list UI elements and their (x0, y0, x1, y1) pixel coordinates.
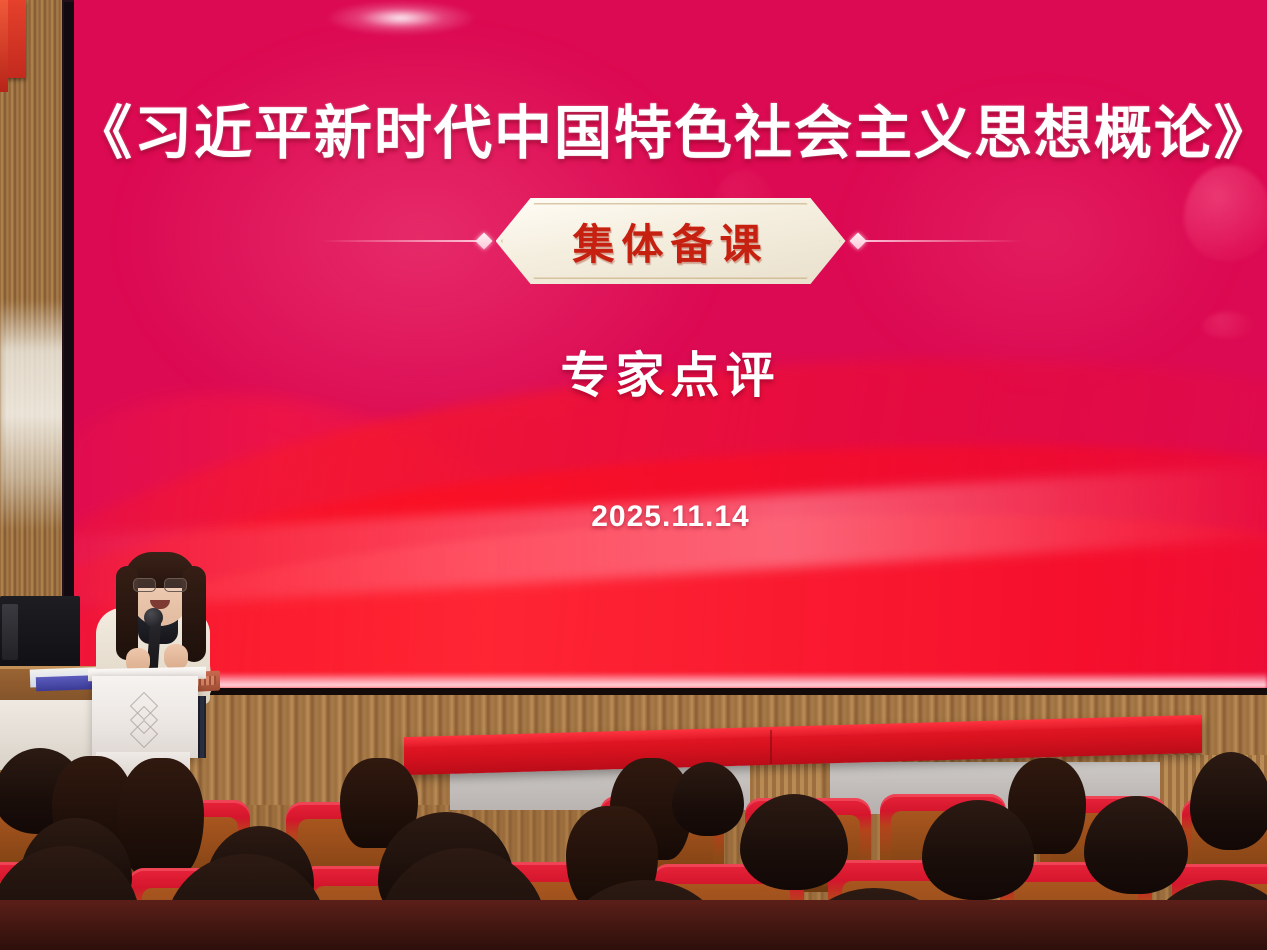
lecture-hall-screenshot: 《习近平新时代中国特色社会主义思想概论》 集体备课 专家点评 2025.11.1… (0, 0, 1267, 950)
diamond-icon (849, 233, 866, 250)
decorative-rule-left (320, 240, 490, 242)
audience-head (1190, 752, 1267, 850)
red-banner-edge (0, 0, 8, 92)
plaque-label: 集体备课 (572, 211, 768, 272)
slide-subtitle: 专家点评 (74, 336, 1267, 407)
slide-date: 2025.11.14 (74, 500, 1267, 534)
floor (0, 900, 1267, 950)
monitor-stand (2, 604, 18, 660)
balloon-decoration (1202, 312, 1254, 338)
projection-screen: 《习近平新时代中国特色社会主义思想概论》 集体备课 专家点评 2025.11.1… (74, 0, 1267, 688)
diamond-icon (475, 233, 492, 250)
audience-head (672, 762, 744, 836)
glasses-icon (133, 578, 187, 590)
audience-head (1084, 796, 1188, 894)
decorative-rule-right (852, 240, 1022, 242)
microphone-head-icon (144, 608, 163, 627)
audience-head (118, 758, 204, 876)
screen-bottom-glow (74, 672, 1267, 688)
slide-title: 《习近平新时代中国特色社会主义思想概论》 (74, 86, 1267, 170)
slide-plaque: 集体备课 (496, 198, 846, 284)
slide-plaque-row: 集体备课 (74, 196, 1267, 286)
podium-emblem-icon (128, 694, 158, 746)
presenter-hand-right (164, 644, 188, 670)
